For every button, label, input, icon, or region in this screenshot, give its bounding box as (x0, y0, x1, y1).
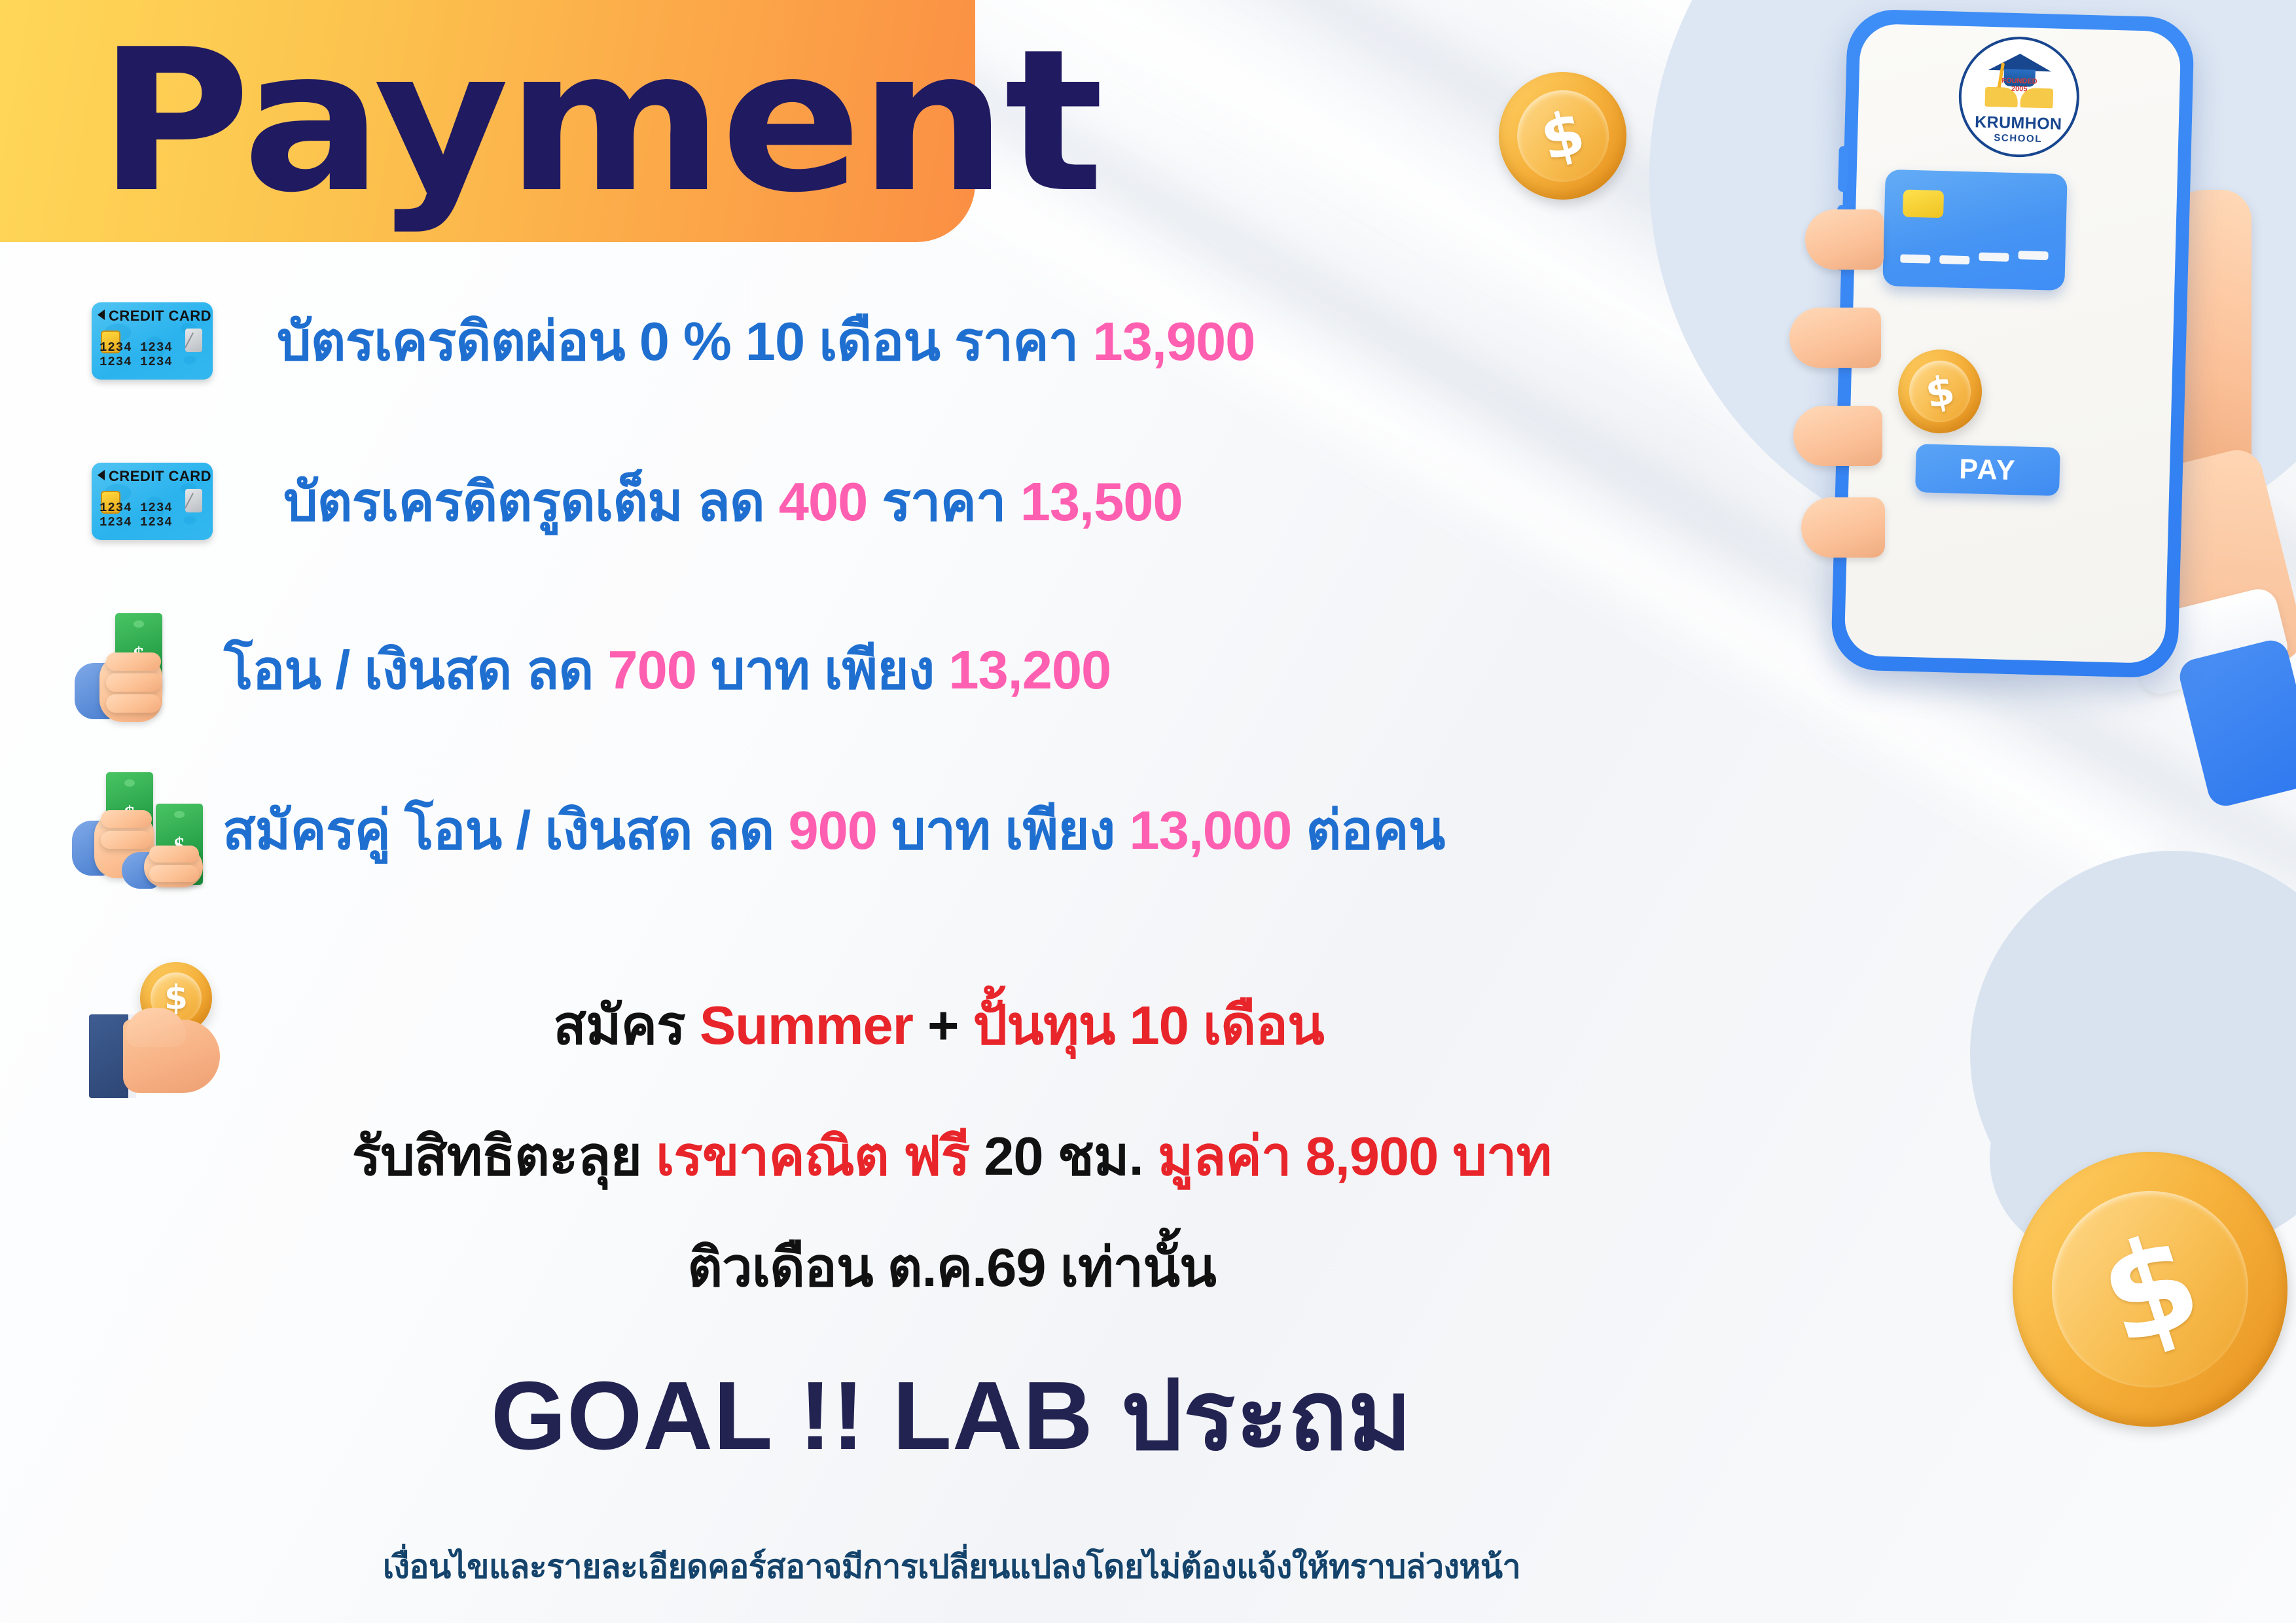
bonus-segment: 20 ชม. (984, 1126, 1158, 1186)
finger (149, 865, 199, 882)
page-title: Payment (98, 28, 1101, 215)
payment-row-text: บัตรเครดิตรูดเต็ม ลด 400 ราคา 13,500 (283, 458, 1183, 544)
bonus-segment: สมัคร (553, 995, 700, 1056)
finger (106, 652, 161, 671)
finger (106, 694, 161, 713)
bonus-segment: รับสิทธิตะลุย (352, 1126, 656, 1186)
row-segment: บัตรเครดิตผ่อน 0 % 10 เดือน ราคา (277, 311, 1092, 372)
payment-row-text: บัตรเครดิตผ่อน 0 % 10 เดือน ราคา 13,900 (277, 298, 1255, 384)
bonus-segment: ติวเดือน ต.ค.69 เท่านั้น (687, 1237, 1216, 1298)
phone-screen: FOUNDED 2005 KRUMHON SCHOOL $ (1844, 24, 2181, 664)
headline: GOAL !! LAB ประถม (0, 1338, 2100, 1492)
finger (1789, 308, 1881, 368)
credit-card-label: CREDIT CARD (109, 468, 211, 485)
phone-credit-card[interactable] (1882, 169, 2068, 291)
row-segment: ต่อคน (1291, 800, 1444, 861)
row-segment: โอน / เงินสด ลด (224, 639, 607, 700)
phone-in-hand-illustration: FOUNDED 2005 KRUMHON SCHOOL $ (1741, 0, 2291, 936)
bonus-line-1: สมัคร Summer + ปั้นทุน 10 เดือน (0, 982, 2087, 1068)
bonus-highlight: Summer (700, 995, 913, 1056)
bonus-segment: + (913, 995, 973, 1056)
credit-card-icon: CREDIT CARD 1234 1234 1234 1234 (92, 302, 213, 380)
founded-year: 2005 (2011, 85, 2028, 94)
dollar-sign-icon: $ (1922, 365, 1958, 418)
bonus-line-3: ติวเดือน ต.ค.69 เท่านั้น (0, 1224, 2100, 1310)
graduation-cap-icon (1988, 53, 2052, 75)
finger (101, 831, 152, 849)
phone-coin-icon: $ (1897, 348, 1982, 434)
founded-label: FOUNDED (2001, 77, 2037, 85)
footer-note-text: เงื่อนไขและรายละเอียดคอร์สอาจมีการเปลี่ย… (383, 1548, 1520, 1585)
credit-card-label: CREDIT CARD (109, 308, 211, 325)
krumhon-school-logo: FOUNDED 2005 KRUMHON SCHOOL (1957, 35, 2081, 159)
card-number-dash (1900, 254, 1930, 263)
payment-row: CREDIT CARD 1234 1234 1234 1234 บัตรเครด… (92, 298, 1255, 384)
row-discount: 400 (779, 471, 867, 532)
cash-in-hand-icon: $ (72, 612, 203, 726)
row-segment: ราคา (867, 471, 1020, 532)
open-book-icon: FOUNDED 2005 (1984, 87, 2053, 111)
finger (1805, 209, 1884, 270)
row-segment: บัตรเครดิตรูดเต็ม ลด (283, 471, 779, 532)
credit-card-number: 1234 1234 1234 1234 (99, 501, 213, 529)
pay-button-label: PAY (1959, 453, 2017, 486)
card-number-dash (1979, 253, 2009, 262)
row-segment: บาท เพียง (877, 800, 1129, 861)
footer-note: เงื่อนไขและรายละเอียดคอร์สอาจมีการเปลี่ย… (0, 1541, 2100, 1593)
double-cash-in-hand-icon: $ $ (72, 772, 223, 887)
smartphone[interactable]: FOUNDED 2005 KRUMHON SCHOOL $ (1831, 9, 2195, 679)
row-segment: บาท เพียง (696, 639, 948, 700)
bonus-highlight: เรขาคณิต ฟรี (656, 1126, 984, 1186)
finger (1793, 406, 1882, 466)
row-discount: 900 (788, 800, 876, 861)
finger (149, 846, 199, 863)
payment-row: CREDIT CARD 1234 1234 1234 1234 บัตรเครด… (92, 458, 1183, 544)
payment-row: $ $ สมัครคู่ โอน / เงินสด ลด 900 บาท เพี… (72, 772, 1444, 887)
row-price: 13,900 (1092, 311, 1255, 372)
bonus-highlight: ปั้นทุน 10 เดือน (973, 995, 1324, 1056)
headline-text: GOAL !! LAB ประถม (491, 1362, 1412, 1470)
sleeve-arm (2176, 637, 2296, 810)
payment-row-text: โอน / เงินสด ลด 700 บาท เพียง 13,200 (224, 626, 1111, 713)
card-number-dash (2018, 251, 2048, 260)
dollar-sign-icon: $ (2083, 1203, 2217, 1376)
finger (1801, 497, 1885, 558)
pay-button[interactable]: PAY (1915, 444, 2060, 496)
row-price: 13,000 (1129, 800, 1291, 861)
credit-card-number: 1234 1234 1234 1234 (99, 340, 213, 369)
hand-left (1767, 209, 1878, 576)
card-number-dash (1939, 255, 1969, 264)
card-chip-icon (1903, 190, 1944, 219)
payment-row-text: สมัครคู่ โอน / เงินสด ลด 900 บาท เพียง 1… (223, 787, 1444, 873)
logo-name: KRUMHON (1975, 113, 2062, 134)
payment-row: $ โอน / เงินสด ลด 700 บาท เพียง 13,200 (72, 612, 1111, 726)
phone-volume-button[interactable] (1838, 146, 1848, 192)
credit-card-icon: CREDIT CARD 1234 1234 1234 1234 (92, 463, 213, 540)
bonus-highlight: มูลค่า 8,900 บาท (1158, 1126, 1552, 1186)
dollar-sign-icon: $ (1534, 97, 1591, 175)
header-banner: Payment (0, 0, 975, 242)
row-segment: สมัครคู่ โอน / เงินสด ลด (223, 800, 788, 861)
finger (106, 673, 161, 692)
row-price: 13,200 (948, 639, 1111, 700)
bonus-line-2: รับสิทธิตะลุย เรขาคณิต ฟรี 20 ชม. มูลค่า… (0, 1113, 2100, 1199)
finger (101, 810, 152, 828)
row-price: 13,500 (1020, 471, 1183, 532)
logo-subtitle: SCHOOL (1994, 132, 2042, 145)
row-discount: 700 (607, 639, 696, 700)
